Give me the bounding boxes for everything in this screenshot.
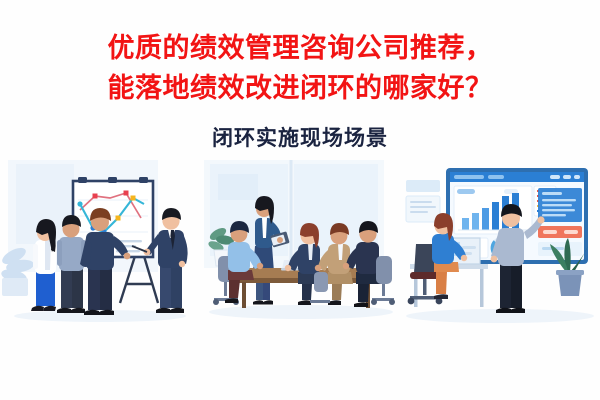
wall-note-card [406,180,440,222]
promotional-banner: 优质的绩效管理咨询公司推荐， 能落地绩效改进闭环的哪家好？ 闭环实施现场场景 [0,0,600,400]
scene-whiteboard-presentation [0,160,200,330]
headline-line-2: 能落地绩效改进闭环的哪家好？ [0,66,600,105]
headline-line-1: 优质的绩效管理咨询公司推荐， [0,26,600,65]
illustration-strip [0,160,600,330]
scene-dashboard-review [400,160,600,330]
page-subtitle: 闭环实施现场场景 [0,122,600,152]
scene-conference-meeting [198,160,404,330]
